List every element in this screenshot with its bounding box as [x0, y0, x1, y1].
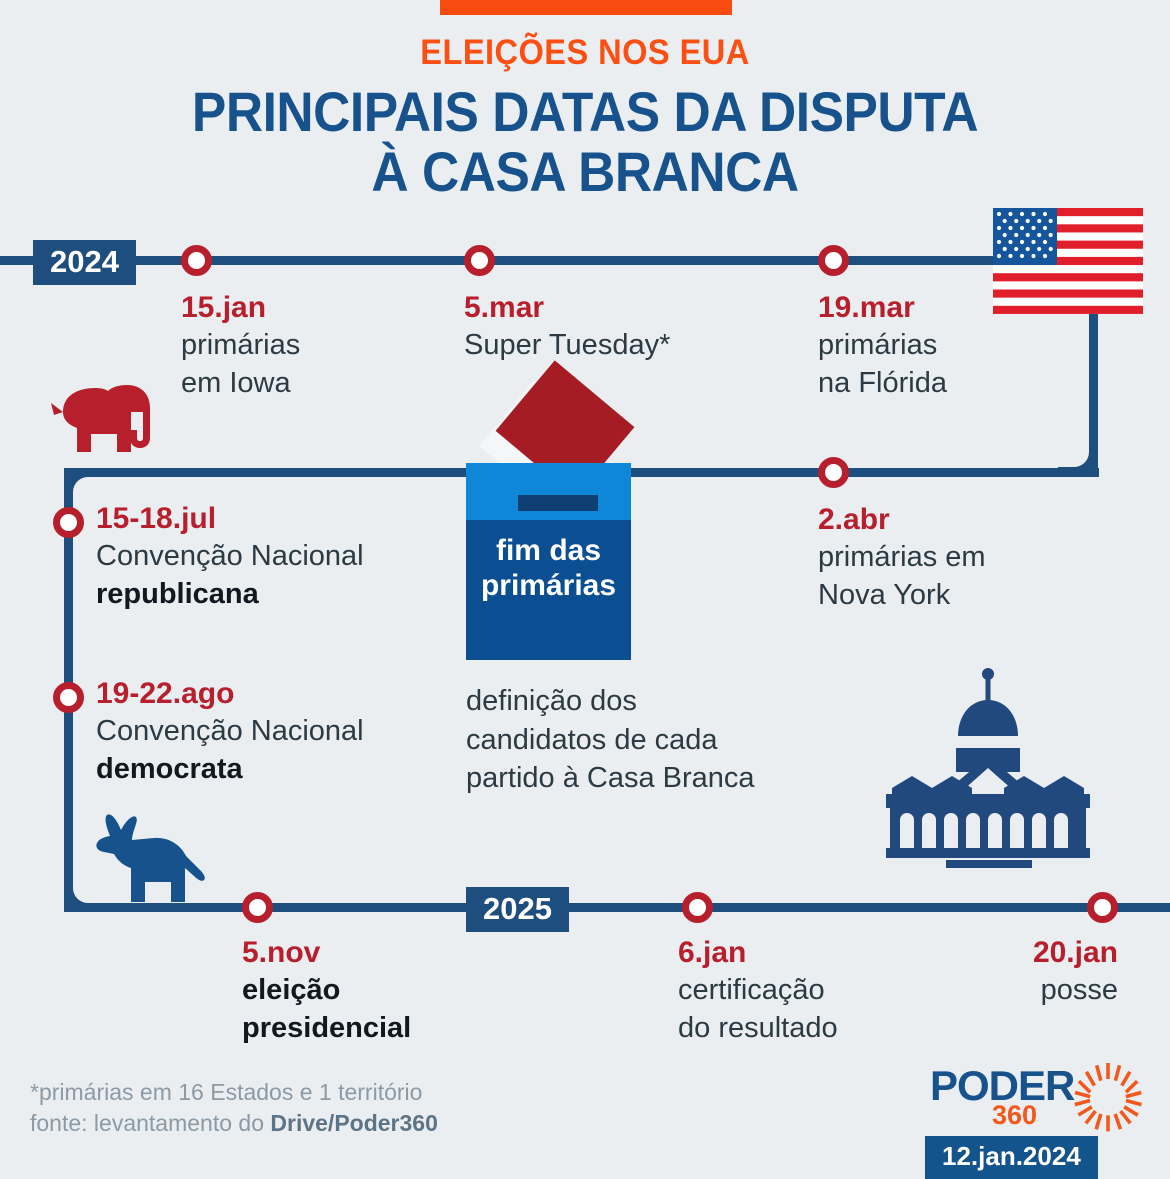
definition-line-3: partido à Casa Branca — [466, 762, 755, 794]
event-description: primárias na Flórida — [818, 327, 1108, 402]
event-5-mar: 5.mar Super Tuesday* — [464, 290, 754, 365]
event-desc-line-2: Nova York — [818, 579, 950, 611]
event-date: 20.jan — [848, 935, 1118, 970]
timeline-node-15-jan[interactable] — [181, 245, 212, 276]
event-date: 15.jan — [181, 290, 471, 325]
timeline-rail-row-3 — [64, 903, 1170, 912]
event-desc-line-1: Convenção Nacional — [96, 715, 364, 747]
event-desc-line-1: eleição — [242, 974, 340, 1006]
timeline-node-15-18-jul[interactable] — [53, 507, 84, 538]
timeline-node-20-jan[interactable] — [1087, 892, 1118, 923]
event-15-jan: 15.jan primárias em Iowa — [181, 290, 471, 403]
event-description: posse — [848, 972, 1118, 1010]
event-description: eleição presidencial — [242, 972, 532, 1047]
event-desc-line-1: posse — [1041, 974, 1118, 1006]
footnote-source-name: Drive/Poder360 — [270, 1110, 437, 1136]
event-5-nov: 5.nov eleição presidencial — [242, 935, 532, 1048]
event-description: Convenção Nacional republicana — [96, 538, 456, 613]
ballot-definition-text: definição dos candidatos de cada partido… — [466, 682, 866, 798]
footnote-line-1: *primárias em 16 Estados e 1 território — [30, 1079, 422, 1105]
event-date: 15-18.jul — [96, 501, 456, 536]
event-desc-line-2: em Iowa — [181, 367, 291, 399]
event-date: 19-22.ago — [96, 676, 456, 711]
event-desc-line-2: do resultado — [678, 1012, 838, 1044]
definition-line-2: candidatos de cada — [466, 724, 718, 756]
event-desc-line-1: certificação — [678, 974, 825, 1006]
event-desc-line-2: democrata — [96, 753, 243, 785]
kicker-text: ELEIÇÕES NOS EUA — [41, 33, 1129, 73]
event-desc-line-1: primárias — [181, 329, 300, 361]
ballot-label-line-1: fim das — [496, 534, 601, 567]
footnote-source-note: *primárias em 16 Estados e 1 território … — [30, 1077, 590, 1139]
democrat-donkey-icon — [88, 812, 213, 912]
event-desc-line-1: Convenção Nacional — [96, 540, 364, 572]
logo-number: 360 — [992, 1100, 1037, 1131]
timeline-node-19-22-ago[interactable] — [53, 682, 84, 713]
top-accent-bar — [440, 0, 732, 15]
ballot-box-graphic: fim das primárias — [466, 463, 631, 660]
event-19-22-ago: 19-22.ago Convenção Nacional democrata — [96, 676, 456, 789]
event-15-18-jul: 15-18.jul Convenção Nacional republicana — [96, 501, 456, 614]
timeline-node-2-abr[interactable] — [818, 457, 849, 488]
timeline-rail-row-1 — [0, 256, 1100, 265]
event-description: Super Tuesday* — [464, 327, 754, 365]
timeline-node-6-jan[interactable] — [682, 892, 713, 923]
page-title-line-1: PRINCIPAIS DATAS DA DISPUTA — [192, 80, 978, 143]
event-desc-line-1: primárias em — [818, 541, 986, 573]
poder360-sunburst-icon — [1071, 1060, 1145, 1134]
definition-line-1: definição dos — [466, 685, 637, 717]
event-date: 2.abr — [818, 502, 1148, 537]
timeline-node-5-mar[interactable] — [464, 245, 495, 276]
event-description: primárias em Iowa — [181, 327, 471, 402]
event-desc-line-1: primárias — [818, 329, 937, 361]
ballot-box-lid — [466, 463, 631, 520]
event-desc-line-1: Super Tuesday* — [464, 329, 670, 361]
event-description: Convenção Nacional democrata — [96, 713, 456, 788]
page-title: PRINCIPAIS DATAS DA DISPUTA À CASA BRANC… — [47, 82, 1123, 203]
timeline-node-5-nov[interactable] — [242, 892, 273, 923]
poder360-logo[interactable]: PODER 360 — [930, 1062, 1145, 1128]
event-desc-line-2: presidencial — [242, 1012, 411, 1044]
infographic-canvas: ELEIÇÕES NOS EUA PRINCIPAIS DATAS DA DIS… — [0, 0, 1170, 1170]
us-flag-icon — [993, 208, 1143, 314]
event-desc-line-2: republicana — [96, 578, 259, 610]
capitol-building-icon — [872, 648, 1104, 872]
page-title-line-2: À CASA BRANCA — [47, 142, 1123, 202]
timeline-node-19-mar[interactable] — [818, 245, 849, 276]
event-date: 5.nov — [242, 935, 532, 970]
footnote-line-2-prefix: fonte: levantamento do — [30, 1110, 270, 1136]
year-chip-2024: 2024 — [33, 240, 136, 285]
ballot-box-label: fim das primárias — [466, 533, 631, 604]
event-2-abr: 2.abr primárias em Nova York — [818, 502, 1148, 615]
event-20-jan: 20.jan posse — [848, 935, 1118, 1010]
republican-elephant-icon — [45, 382, 160, 470]
event-description: primárias em Nova York — [818, 539, 1148, 614]
publication-date-badge: 12.jan.2024 — [925, 1136, 1098, 1179]
year-chip-2025: 2025 — [466, 887, 569, 932]
ballot-label-line-2: primárias — [481, 569, 616, 602]
event-date: 5.mar — [464, 290, 754, 325]
ballot-box-slot — [518, 495, 598, 511]
event-desc-line-2: na Flórida — [818, 367, 947, 399]
